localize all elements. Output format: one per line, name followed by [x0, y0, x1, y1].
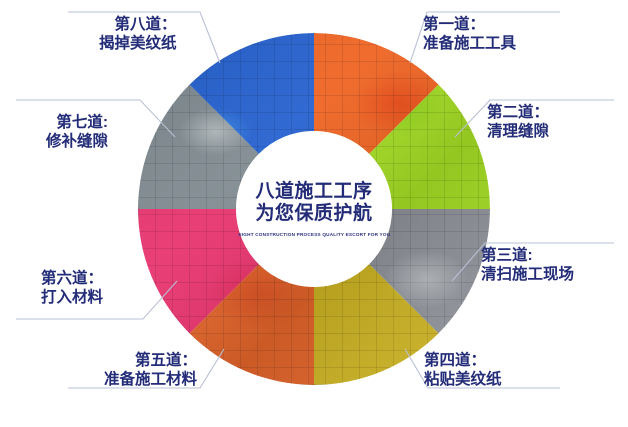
hub-title-line1: 八道施工工序 — [255, 181, 372, 203]
step-caption-2: 清理缝隙 — [487, 122, 549, 141]
step-label-6[interactable]: 第六道： 打入材料 — [41, 269, 103, 307]
step-label-5[interactable]: 第五道： 准备施工材料 — [104, 351, 197, 389]
step-label-2[interactable]: 第二道： 清理缝隙 — [487, 103, 549, 141]
step-heading-8: 第八道： — [99, 15, 177, 34]
step-caption-5: 准备施工材料 — [104, 370, 197, 389]
step-caption-1: 准备施工工具 — [423, 34, 516, 53]
step-label-1[interactable]: 第一道： 准备施工工具 — [423, 15, 516, 53]
step-heading-4: 第四道： — [424, 351, 502, 370]
step-label-3[interactable]: 第三道: 清扫施工现场 — [481, 246, 574, 284]
hub-subtitle-english: EIGHT CONSTRUCTION PROCESS QUALITY ESCOR… — [238, 232, 390, 237]
center-hub: 八道施工工序 为您保质护航 EIGHT CONSTRUCTION PROCESS… — [236, 131, 392, 287]
step-heading-3: 第三道: — [481, 246, 574, 265]
step-caption-3: 清扫施工现场 — [481, 265, 574, 284]
step-heading-5: 第五道： — [104, 351, 197, 370]
step-caption-8: 揭掉美纹纸 — [99, 34, 177, 53]
process-infographic: 八道施工工序 为您保质护航 EIGHT CONSTRUCTION PROCESS… — [0, 0, 628, 427]
step-caption-4: 粘贴美纹纸 — [424, 370, 502, 389]
step-heading-6: 第六道： — [41, 269, 103, 288]
step-label-4[interactable]: 第四道： 粘贴美纹纸 — [424, 351, 502, 389]
step-heading-2: 第二道： — [487, 103, 549, 122]
step-heading-7: 第七道: — [46, 113, 108, 132]
step-caption-6: 打入材料 — [41, 288, 103, 307]
step-label-8[interactable]: 第八道： 揭掉美纹纸 — [99, 15, 177, 53]
hub-title-line2: 为您保质护航 — [255, 203, 372, 225]
step-label-7[interactable]: 第七道: 修补缝隙 — [46, 113, 108, 151]
step-heading-1: 第一道： — [423, 15, 516, 34]
step-caption-7: 修补缝隙 — [46, 132, 108, 151]
